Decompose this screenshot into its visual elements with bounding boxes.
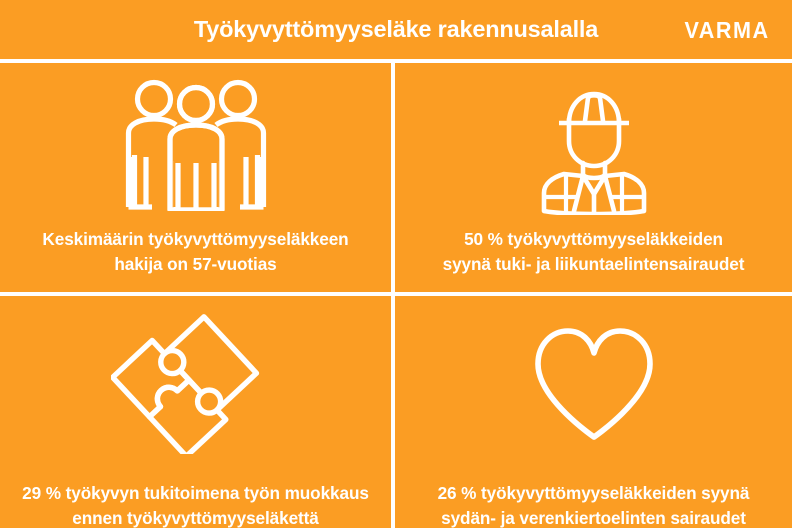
page-title: Työkyvyttömyyseläke rakennusalalla — [0, 15, 792, 43]
construction-worker-icon — [395, 75, 792, 215]
varma-logo: VARMA — [685, 16, 770, 44]
stat-card-work-modification: 29 % työkyvyn tukitoimena työn muokkaus … — [0, 296, 391, 528]
stat-caption: 29 % työkyvyn tukitoimena työn muokkaus … — [8, 481, 383, 528]
caption-line-1: Keskimäärin työkyvyttömyyseläkkeen — [8, 227, 383, 252]
three-people-icon — [0, 75, 391, 215]
stat-caption: 26 % työkyvyttömyyseläkkeiden syynä sydä… — [403, 481, 784, 528]
header-bar: Työkyvyttömyyseläke rakennusalalla VARMA — [0, 0, 792, 59]
stat-card-musculoskeletal-diseases: 50 % työkyvyttömyyseläkkeiden syynä tuki… — [395, 63, 792, 292]
caption-line-1: 26 % työkyvyttömyyseläkkeiden syynä — [403, 481, 784, 506]
infographic-root: Työkyvyttömyyseläke rakennusalalla VARMA — [0, 0, 792, 528]
caption-line-2: syynä tuki- ja liikuntaelintensairaudet — [403, 252, 784, 277]
stat-caption: 50 % työkyvyttömyyseläkkeiden syynä tuki… — [403, 227, 784, 277]
puzzle-pieces-icon — [0, 314, 391, 454]
stat-caption: Keskimäärin työkyvyttömyyseläkkeen hakij… — [8, 227, 383, 277]
caption-line-2: sydän- ja verenkiertoelinten sairaudet — [403, 506, 784, 528]
caption-line-1: 50 % työkyvyttömyyseläkkeiden — [403, 227, 784, 252]
heart-icon — [395, 314, 792, 454]
caption-line-2: hakija on 57-vuotias — [8, 252, 383, 277]
caption-line-1: 29 % työkyvyn tukitoimena työn muokkaus — [8, 481, 383, 506]
stats-grid: Keskimäärin työkyvyttömyyseläkkeen hakij… — [0, 63, 792, 528]
caption-line-2: ennen työkyvyttömyyseläkettä — [8, 506, 383, 528]
stat-card-average-applicant-age: Keskimäärin työkyvyttömyyseläkkeen hakij… — [0, 63, 391, 292]
stat-card-cardiovascular-diseases: 26 % työkyvyttömyyseläkkeiden syynä sydä… — [395, 296, 792, 528]
